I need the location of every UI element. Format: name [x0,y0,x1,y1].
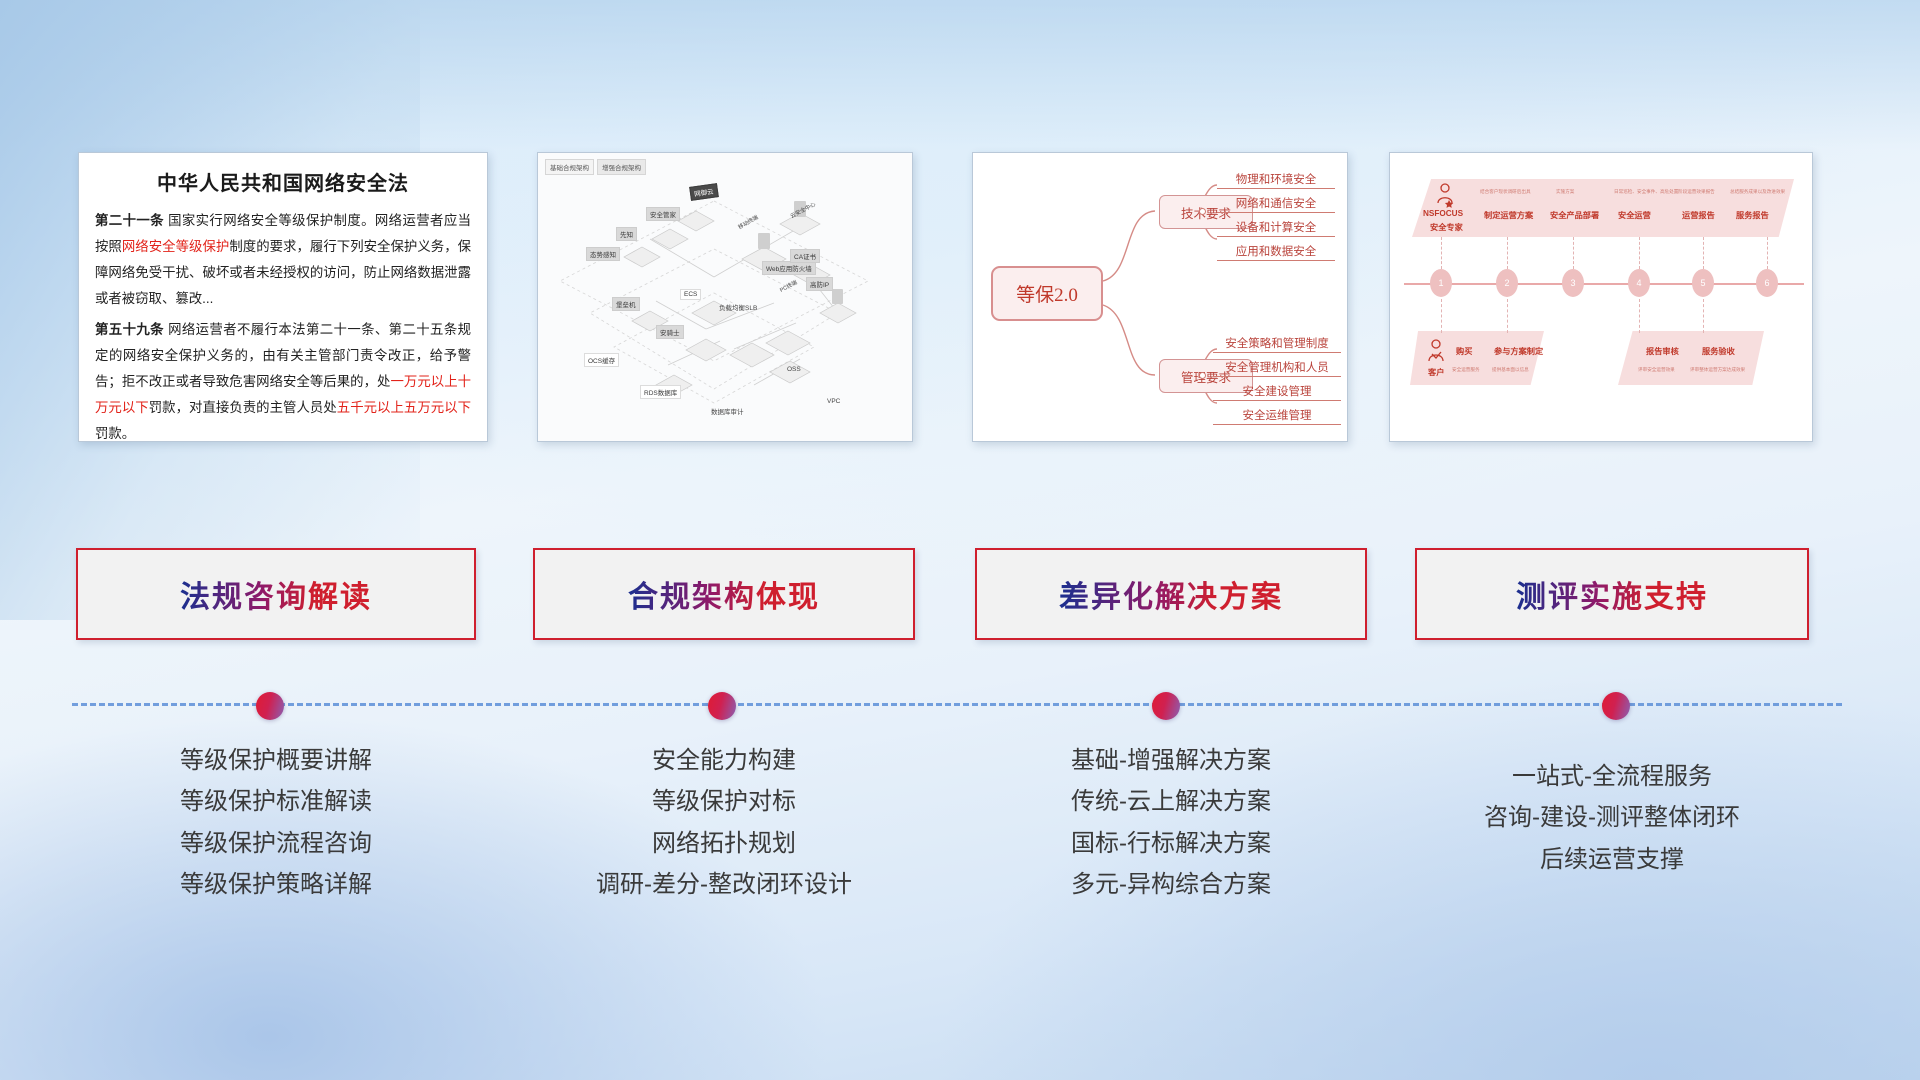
flow-timeline-axis [1404,283,1804,285]
heading-box-regulation-consulting[interactable]: 法规咨询解读 [76,548,476,640]
list-item: 等级保护对标 [533,781,915,822]
flow-top-title-2: 安全产品部署 [1550,209,1599,221]
flow-step-number-6: 6 [1756,269,1778,297]
flow-connector-b3 [1639,299,1640,333]
customer-icon [1426,339,1446,365]
flow-connector-b4 [1703,299,1704,333]
flow-connector-4 [1639,237,1640,269]
heading-label-2: 合规架构体现 [628,572,820,616]
mindmap-leaf-device-compute: 设备和计算安全 [1217,219,1335,237]
node-label-anti-ddos-ip: 高防IP [806,277,833,291]
node-label-anqishi: 安骑士 [656,325,684,339]
mindmap-collapse-icon-technical[interactable] [1199,208,1206,215]
top-cards-row: 中华人民共和国网络安全法 第二十一条 国家实行网络安全等级保护制度。网络运营者应… [0,152,1920,442]
card-dengbao-mindmap[interactable]: 等保2.0 技术要求 物理和环境安全 网络和通信安全 设备和计算安全 应用和数据… [972,152,1348,442]
mindmap-leaf-policy-system: 安全策略和管理制度 [1213,335,1341,353]
flow-top-title-1: 制定运营方案 [1484,209,1533,221]
mindmap-leaf-app-data: 应用和数据安全 [1217,243,1335,261]
article-21-label: 第二十一条 [95,213,164,228]
flow-step-number-2: 2 [1496,269,1518,297]
flow-step-number-4: 4 [1628,269,1650,297]
flow-step-number-3: 3 [1562,269,1584,297]
mindmap-leaf-physical-env: 物理和环境安全 [1217,171,1335,189]
mindmap-leaf-construction-mgmt: 安全建设管理 [1213,383,1341,401]
flow-step-number-1: 1 [1430,269,1452,297]
flow-connector-b2 [1507,299,1508,333]
heading-label-3: 差异化解决方案 [1059,572,1283,616]
flow-top-title-3: 安全运营 [1618,209,1651,221]
mindmap-collapse-icon-management[interactable] [1199,372,1206,379]
node-label-security-steward: 安全管家 [646,207,680,221]
flow-bottom-sub-4: 评审整体运营方案达成效果 [1690,367,1745,373]
card-compliance-architecture[interactable]: 基础合规架构 增强合规架构 [537,152,913,442]
flow-top-title-5: 服务报告 [1736,209,1769,221]
heading-box-compliance-architecture[interactable]: 合规架构体现 [533,548,915,640]
node-label-ca-certificate: CA证书 [790,249,820,263]
node-label-rds-database: RDS数据库 [640,385,681,399]
flow-top-sub-2: 实施方案 [1556,189,1574,195]
node-label-load-balancer: 负载均衡SLB [716,301,760,313]
flow-bottom-title-1: 购买 [1456,345,1472,357]
article-59-part2: 罚款，对直接负责的主管人员处 [149,400,337,415]
flow-bottom-sub-1: 安全运营服务 [1452,367,1480,373]
flow-connector-6 [1767,237,1768,269]
law-title: 中华人民共和国网络安全法 [95,167,471,196]
list-item: 网络拓扑规划 [533,823,915,864]
list-item: 等级保护策略详解 [76,864,476,905]
flow-bottom-title-4: 服务验收 [1702,345,1735,357]
list-item: 等级保护概要讲解 [76,740,476,781]
section-headings-row: 法规咨询解读 合规架构体现 差异化解决方案 测评实施支持 [0,548,1920,648]
card-nsfocus-service-flow[interactable]: NSFOCUS 安全专家 结合客户现状调研后出具 制定运营方案 实施方案 安全产… [1389,152,1813,442]
timeline-dot-4[interactable] [1602,692,1630,720]
flow-top-title-4: 运营报告 [1682,209,1715,221]
timeline [0,692,1920,716]
timeline-dot-1[interactable] [256,692,284,720]
node-label-situation-awareness: 态势感知 [586,247,620,261]
flow-bottom-title-3: 报告审核 [1646,345,1679,357]
list-item: 咨询-建设-测评整体闭环 [1415,797,1809,838]
flow-connector-1 [1441,237,1442,269]
node-label-bastion-host: 堡垒机 [612,297,640,311]
list-item: 后续运营支撑 [1415,839,1809,880]
law-article-59: 第五十九条 网络运营者不履行本法第二十一条、第二十五条规定的网络安全保护义务的，… [95,317,471,442]
mindmap-root-node: 等保2.0 [991,266,1103,321]
heading-label-4: 测评实施支持 [1516,572,1708,616]
list-item: 等级保护流程咨询 [76,823,476,864]
node-label-ocs-cache: OCS缓存 [584,353,619,367]
article-59-part3: 罚款。 [95,426,135,441]
mindmap-leaf-org-personnel: 安全管理机构和人员 [1213,359,1341,377]
list-item: 安全能力构建 [533,740,915,781]
timeline-dot-2[interactable] [708,692,736,720]
node-label-oss: OSS [784,365,804,374]
flow-expert-brand: NSFOCUS [1423,209,1463,218]
flow-step-number-5: 5 [1692,269,1714,297]
list-item: 传统-云上解决方案 [975,781,1367,822]
service-flow-diagram: NSFOCUS 安全专家 结合客户现状调研后出具 制定运营方案 实施方案 安全产… [1390,153,1812,441]
list-item: 一站式-全流程服务 [1415,756,1809,797]
flow-bottom-sub-2: 提供基本面以信息 [1492,367,1529,373]
feature-list-2: 安全能力构建 等级保护对标 网络拓扑规划 调研-差分-整改闭环设计 [533,740,915,905]
flow-connector-2 [1507,237,1508,269]
flow-bottom-title-2: 参与方案制定 [1494,345,1543,357]
heading-label-1: 法规咨询解读 [180,572,372,616]
flow-expert-role: 安全专家 [1430,221,1463,233]
list-item: 调研-差分-整改闭环设计 [533,864,915,905]
mindmap-diagram: 等保2.0 技术要求 物理和环境安全 网络和通信安全 设备和计算安全 应用和数据… [973,153,1347,441]
card-cybersecurity-law[interactable]: 中华人民共和国网络安全法 第二十一条 国家实行网络安全等级保护制度。网络运营者应… [78,152,488,442]
article-21-highlight: 网络安全等级保护 [122,239,229,254]
feature-list-3: 基础-增强解决方案 传统-云上解决方案 国标-行标解决方案 多元-异构综合方案 [975,740,1367,905]
node-label-vpc: VPC [824,397,843,406]
architecture-wireframe [538,153,913,442]
flow-customer-role: 客户 [1428,366,1444,378]
node-label-ecs: ECS [680,289,701,300]
article-59-label: 第五十九条 [95,322,164,337]
flow-connector-3 [1573,237,1574,269]
flow-top-sub-4: 阶段运营效果报告 [1678,189,1715,195]
law-article-21: 第二十一条 国家实行网络安全等级保护制度。网络运营者应当按照网络安全等级保护制度… [95,208,471,313]
flow-top-sub-1: 结合客户现状调研后出具 [1480,189,1531,195]
list-item: 等级保护标准解读 [76,781,476,822]
heading-box-differentiated-solution[interactable]: 差异化解决方案 [975,548,1367,640]
node-label-xianzhi: 先知 [616,227,637,241]
feature-list-1: 等级保护概要讲解 等级保护标准解读 等级保护流程咨询 等级保护策略详解 [76,740,476,905]
timeline-dashed-line [72,703,1842,706]
flow-top-sub-5: 总结服务成果以及改进效果 [1730,189,1785,195]
architecture-diagram: 基础合规架构 增强合规架构 [538,153,912,441]
mindmap-leaf-network-comm: 网络和通信安全 [1217,195,1335,213]
article-59-highlight-2: 五千元以上五万元以下 [337,400,471,415]
node-label-waf: Web应用防火墙 [762,261,816,275]
flow-top-sub-3: 日常巡检、安全事件、高危处置 [1614,189,1678,195]
flow-bottom-sub-3: 评审安全运营效果 [1638,367,1675,373]
flow-connector-5 [1703,237,1704,269]
list-item: 基础-增强解决方案 [975,740,1367,781]
feature-list-4: 一站式-全流程服务 咨询-建设-测评整体闭环 后续运营支撑 [1415,756,1809,880]
security-expert-icon [1434,183,1456,209]
list-item: 多元-异构综合方案 [975,864,1367,905]
flow-band-customer-right [1618,331,1764,385]
heading-box-assessment-support[interactable]: 测评实施支持 [1415,548,1809,640]
mindmap-leaf-ops-mgmt: 安全运维管理 [1213,407,1341,425]
timeline-dot-3[interactable] [1152,692,1180,720]
law-text-block: 中华人民共和国网络安全法 第二十一条 国家实行网络安全等级保护制度。网络运营者应… [79,153,487,442]
list-item: 国标-行标解决方案 [975,823,1367,864]
flow-connector-b1 [1441,299,1442,333]
node-label-database-audit: 数据库审计 [708,405,747,417]
flow-band-provider [1412,179,1794,237]
